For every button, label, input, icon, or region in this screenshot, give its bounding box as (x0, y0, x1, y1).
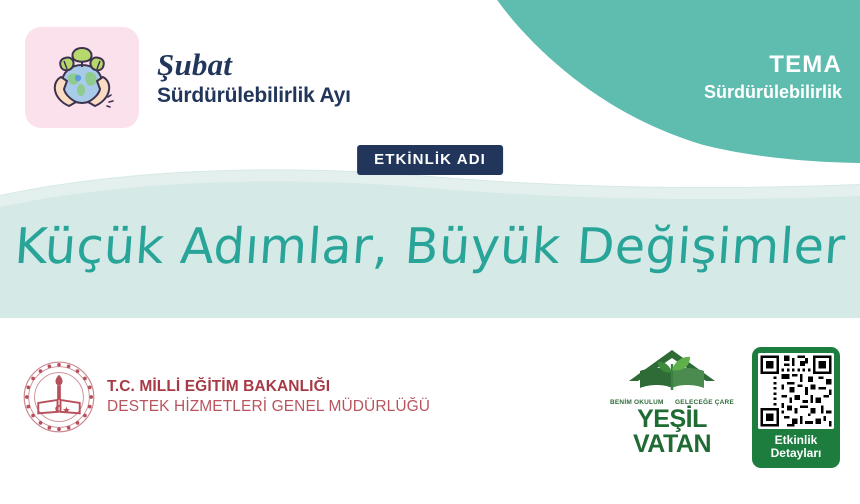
qr-caption-line2: Detayları (758, 447, 834, 460)
month-text-group: Şubat Sürdürülebilirlik Ayı (157, 49, 351, 106)
band-highlight-shape (0, 170, 860, 207)
theme-label: TEMA (704, 52, 842, 79)
qr-caption: Etkinlik Detayları (758, 434, 834, 461)
month-block: Şubat Sürdürülebilirlik Ayı (25, 27, 351, 128)
campaign-name: YEŞİL VATAN (608, 407, 736, 457)
ministry-department: DESTEK HİZMETLERİ GENEL MÜDÜRLÜĞÜ (107, 398, 430, 416)
qr-caption-line1: Etkinlik (758, 434, 834, 447)
event-poster: Şubat Sürdürülebilirlik Ayı TEMA Sürdürü… (0, 0, 860, 504)
ministry-logo: T.C. MİLLİ EĞİTİM BAKANLIĞI DESTEK HİZME… (22, 360, 430, 434)
qr-card[interactable]: Etkinlik Detayları (752, 347, 840, 468)
theme-value: Sürdürülebilirlik (704, 82, 842, 102)
ministry-name: T.C. MİLLİ EĞİTİM BAKANLIĞI (107, 378, 430, 396)
month-subtitle: Sürdürülebilirlik Ayı (157, 85, 351, 106)
hands-holding-earth-icon (45, 45, 119, 111)
activity-name-badge: ETKİNLİK ADI (357, 145, 503, 175)
footer: T.C. MİLLİ EĞİTİM BAKANLIĞI DESTEK HİZME… (0, 340, 860, 504)
month-icon-container (25, 27, 139, 128)
activity-title: Küçük Adımlar, Büyük Değişimler (0, 218, 860, 275)
theme-block: TEMA Sürdürülebilirlik (704, 52, 842, 102)
month-name: Şubat (157, 49, 351, 80)
qr-code-icon[interactable] (758, 353, 834, 429)
ministry-text-group: T.C. MİLLİ EĞİTİM BAKANLIĞI DESTEK HİZME… (107, 378, 430, 416)
book-leaf-icon (608, 348, 736, 398)
campaign-logo: BENİM OKULUM GELECEĞE ÇARE YEŞİL VATAN (608, 348, 736, 457)
meb-emblem-icon (22, 360, 96, 434)
